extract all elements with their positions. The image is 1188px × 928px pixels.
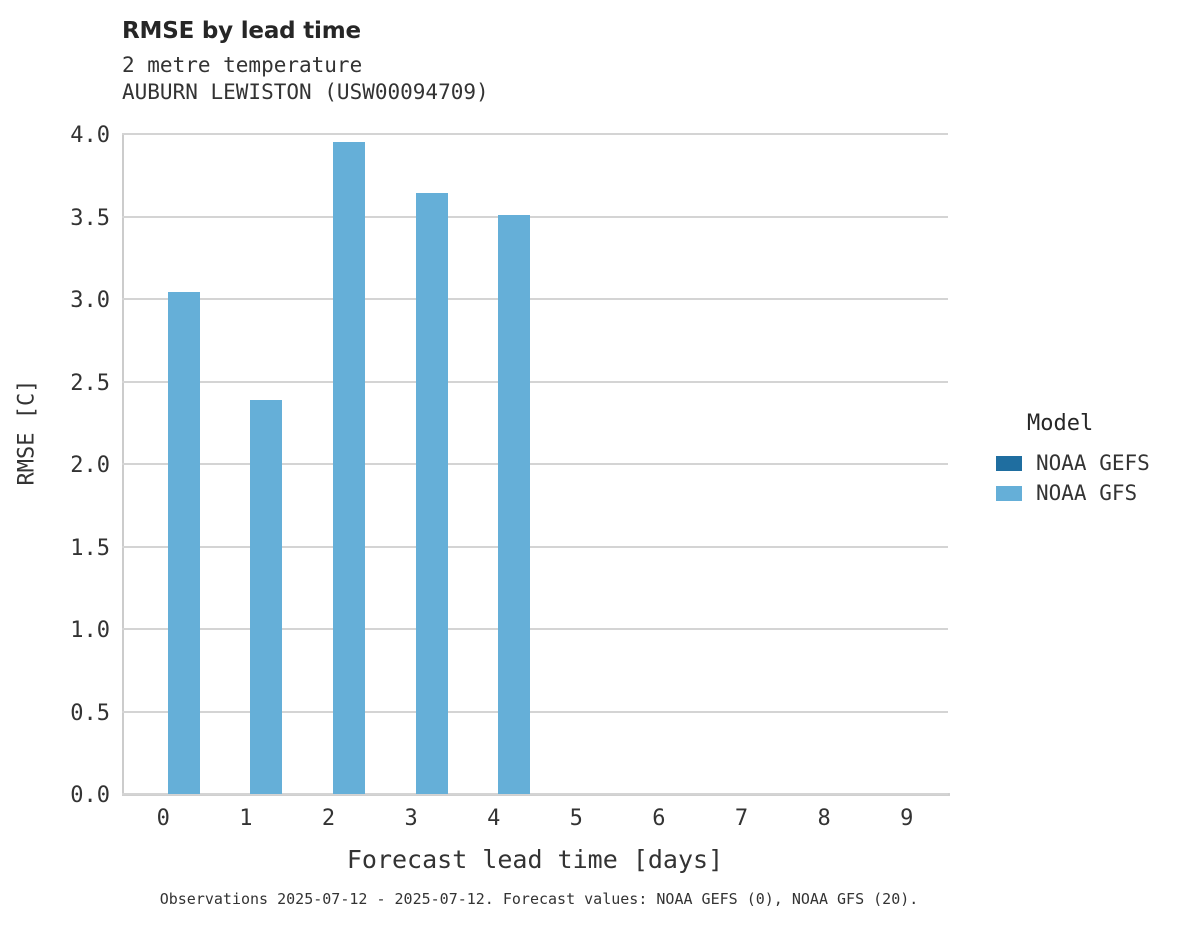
x-axis-tick-label: 1 — [205, 806, 287, 831]
gridline — [122, 793, 948, 795]
gridline — [122, 463, 948, 465]
y-axis-tick-label: 3.5 — [40, 206, 110, 231]
legend-item[interactable]: NOAA GFS — [996, 478, 1186, 508]
y-axis-tick-label: 1.5 — [40, 536, 110, 561]
gridline — [122, 216, 948, 218]
bar[interactable] — [498, 215, 530, 794]
legend-title: Model — [1027, 411, 1186, 436]
x-axis-tick-label: 6 — [618, 806, 700, 831]
bar[interactable] — [168, 292, 200, 794]
x-axis-tick-label: 4 — [453, 806, 535, 831]
y-axis-tick-label: 0.0 — [40, 783, 110, 808]
gridline — [122, 133, 948, 135]
gridline — [122, 546, 948, 548]
plot-area — [122, 134, 948, 794]
chart-caption: Observations 2025-07-12 - 2025-07-12. Fo… — [0, 890, 1078, 908]
legend: Model NOAA GEFSNOAA GFS — [996, 411, 1186, 508]
x-axis-tick-labels: 0123456789 — [122, 806, 948, 838]
legend-entries: NOAA GEFSNOAA GFS — [996, 448, 1186, 508]
y-axis-tick-labels: 0.00.51.01.52.02.53.03.54.0 — [30, 134, 110, 794]
y-axis-title: RMSE [C] — [15, 333, 40, 533]
gridline — [122, 298, 948, 300]
x-axis-tick-label: 0 — [122, 806, 204, 831]
x-axis-tick-label: 2 — [288, 806, 370, 831]
legend-swatch — [996, 486, 1022, 501]
y-axis-tick-label: 0.5 — [40, 701, 110, 726]
chart-subtitle: 2 metre temperature — [122, 53, 362, 77]
y-axis-tick-label: 4.0 — [40, 123, 110, 148]
x-axis-tick-label: 3 — [370, 806, 452, 831]
x-axis-title: Forecast lead time [days] — [122, 845, 948, 874]
bar[interactable] — [416, 193, 448, 794]
bar[interactable] — [250, 400, 282, 794]
gridline — [122, 628, 948, 630]
legend-item[interactable]: NOAA GEFS — [996, 448, 1186, 478]
y-axis-tick-label: 2.0 — [40, 453, 110, 478]
bar[interactable] — [333, 142, 365, 794]
legend-swatch — [996, 456, 1022, 471]
gridline — [122, 381, 948, 383]
page-title: RMSE by lead time — [122, 18, 361, 44]
legend-label: NOAA GFS — [1036, 481, 1137, 505]
gridline — [122, 711, 948, 713]
chart-station-label: AUBURN LEWISTON (USW00094709) — [122, 80, 489, 104]
x-axis-tick-label: 5 — [535, 806, 617, 831]
x-axis-tick-label: 9 — [866, 806, 948, 831]
y-axis-tick-label: 3.0 — [40, 288, 110, 313]
y-axis-tick-label: 1.0 — [40, 618, 110, 643]
x-axis-tick-label: 7 — [701, 806, 783, 831]
x-axis-tick-label: 8 — [783, 806, 865, 831]
legend-label: NOAA GEFS — [1036, 451, 1150, 475]
y-axis-tick-label: 2.5 — [40, 371, 110, 396]
